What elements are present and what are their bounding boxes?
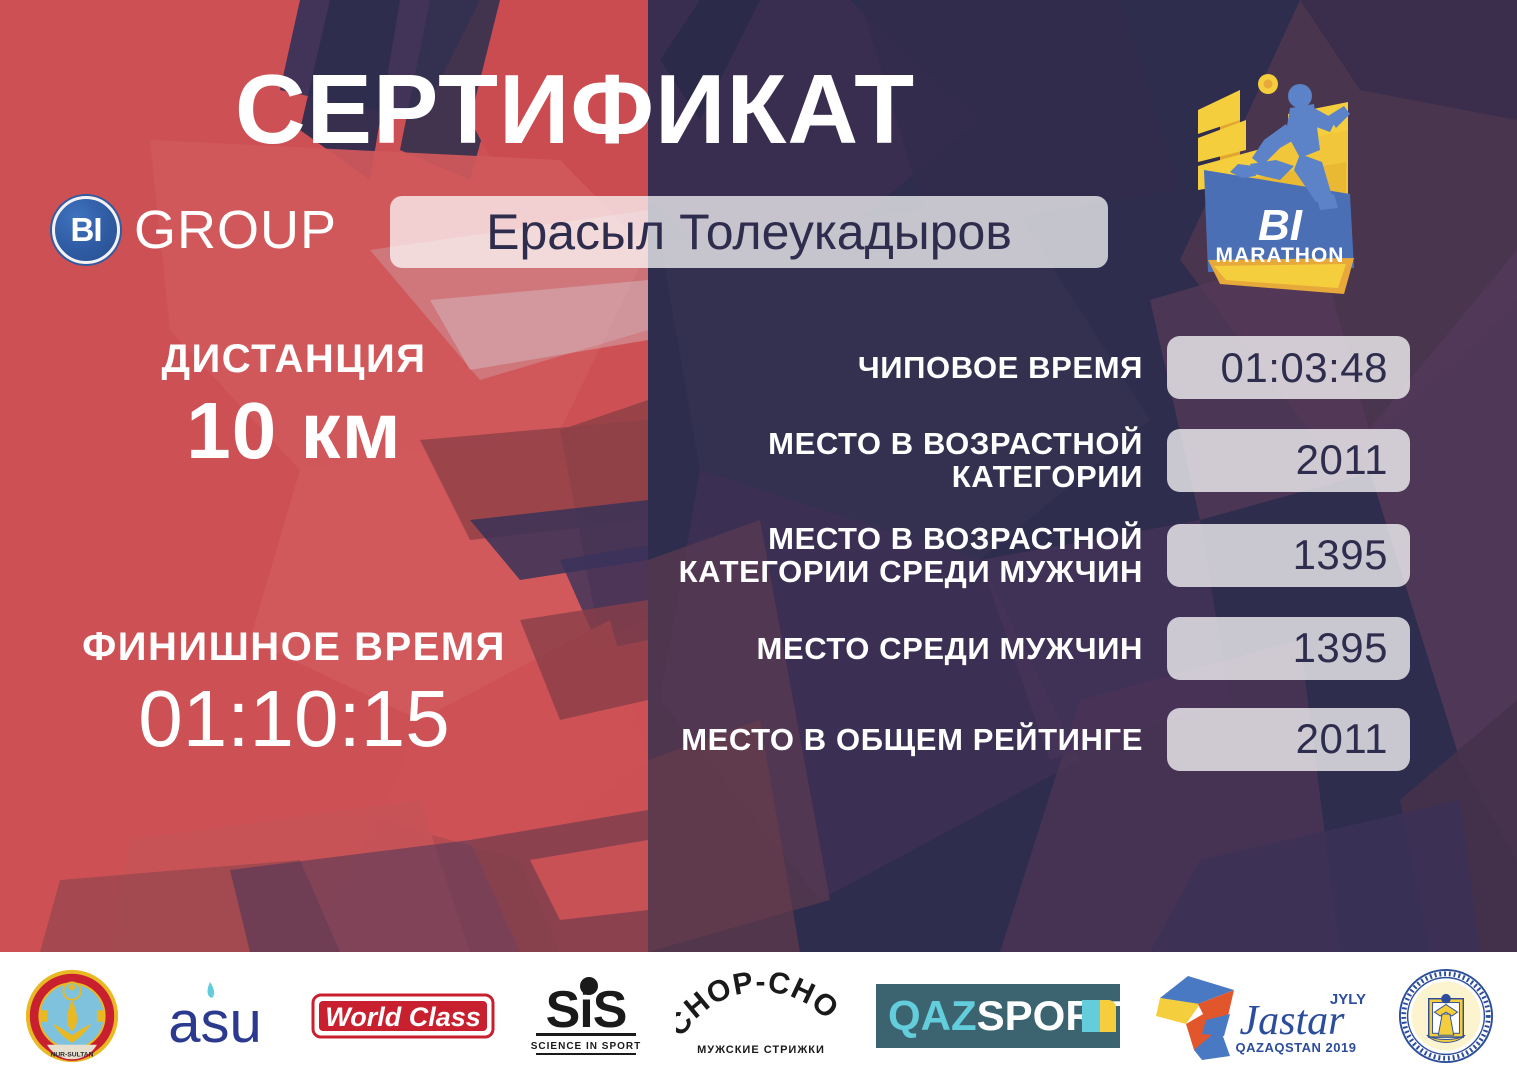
marathon-logo-line2: MARATHON [1216,244,1345,267]
sis-logo-icon: SiS SCIENCE IN SPORT [526,971,646,1061]
jastar-qazaqstan-text: QAZAQSTAN 2019 [1235,1040,1356,1055]
stat-age-category-men-place-label: МЕСТО В ВОЗРАСТНОЙ КАТЕГОРИИ СРЕДИ МУЖЧИ… [600,522,1143,589]
sponsor-sis: SiS SCIENCE IN SPORT [526,968,646,1064]
certificate-background: СЕРТИФИКАТ BI GROUP Ерасыл Толеукадыров [0,0,1517,952]
world-class-wordmark: World Class [325,1002,481,1032]
nur-sultan-emblem-text: NUR-SULTAN [50,1051,93,1058]
stat-row-overall-place: МЕСТО В ОБЩЕМ РЕЙТИНГЕ 2011 [600,708,1410,771]
left-stats-group: ДИСТАНЦИЯ 10 км ФИНИШНОЕ ВРЕМЯ 01:10:15 [44,336,544,763]
sponsor-jastar-jyly: Jastar JYLY QAZAQSTAN 2019 [1150,968,1368,1064]
asu-wordmark: asu [168,990,262,1055]
stat-distance-label: ДИСТАНЦИЯ [44,336,544,382]
sponsor-world-class: World Class [310,968,496,1064]
nur-sultan-emblem-icon: NUR-SULTAN [24,968,120,1064]
stat-men-place-label: МЕСТО СРЕДИ МУЖЧИН [600,632,1143,665]
stat-age-category-place-label: МЕСТО В ВОЗРАСТНОЙ КАТЕГОРИИ [600,427,1143,494]
stat-distance: ДИСТАНЦИЯ 10 км [44,336,544,476]
ministry-emblem-icon [1398,968,1494,1064]
chop-chop-logo-icon: CHOP-CHOP МУЖСКИЕ СТРИЖКИ [676,971,846,1061]
sponsor-chop-chop: CHOP-CHOP МУЖСКИЕ СТРИЖКИ [676,968,846,1064]
stat-finish-time-label: ФИНИШНОЕ ВРЕМЯ [44,624,544,670]
stat-age-category-men-place-value: 1395 [1167,524,1410,587]
athlete-name: Ерасыл Толеукадыров [486,203,1012,261]
marathon-logo-line1: BI [1258,201,1303,250]
sponsor-qazsport: QAZSPORT [876,968,1120,1064]
jastar-jyly-text: JYLY [1329,991,1365,1008]
athlete-name-badge: Ерасыл Толеукадыров [390,196,1108,268]
stat-row-age-category-place: МЕСТО В ВОЗРАСТНОЙ КАТЕГОРИИ 2011 [600,427,1410,494]
page-title: СЕРТИФИКАТ [0,58,1150,161]
qazsport-logo-icon: QAZSPORT [876,978,1120,1054]
stat-finish-time: ФИНИШНОЕ ВРЕМЯ 01:10:15 [44,624,544,764]
bi-group-wordmark: GROUP [134,199,337,261]
right-stats-group: ЧИПОВОЕ ВРЕМЯ 01:03:48 МЕСТО В ВОЗРАСТНО… [600,336,1410,771]
stat-chip-time-value: 01:03:48 [1167,336,1410,399]
sis-tagline: SCIENCE IN SPORT [530,1041,640,1052]
stat-row-chip-time: ЧИПОВОЕ ВРЕМЯ 01:03:48 [600,336,1410,399]
stat-row-age-category-men-place: МЕСТО В ВОЗРАСТНОЙ КАТЕГОРИИ СРЕДИ МУЖЧИ… [600,522,1410,589]
sponsor-ministry-of-culture-and-sport [1398,968,1494,1064]
certificate-canvas: СЕРТИФИКАТ BI GROUP Ерасыл Толеукадыров [0,0,1517,1080]
stat-row-men-place: МЕСТО СРЕДИ МУЖЧИН 1395 [600,617,1410,680]
stat-chip-time-label: ЧИПОВОЕ ВРЕМЯ [600,351,1143,384]
chop-chop-tagline: МУЖСКИЕ СТРИЖКИ [697,1044,825,1056]
bi-marathon-logo-icon: BI MARATHON [1168,62,1378,302]
world-class-logo-icon: World Class [310,981,496,1051]
chop-chop-wordmark: CHOP-CHOP [676,971,845,1042]
sponsor-asu: asu [150,968,280,1064]
stat-finish-time-value: 01:10:15 [44,674,544,764]
sponsors-footer: NUR-SULTAN asu World Class SiS SC [0,952,1517,1080]
stat-overall-place-label: МЕСТО В ОБЩЕМ РЕЙТИНГЕ [600,723,1143,756]
stat-men-place-value: 1395 [1167,617,1410,680]
bi-logo-icon: BI [52,196,120,264]
sponsor-nur-sultan-emblem: NUR-SULTAN [24,968,120,1064]
stat-age-category-place-value: 2011 [1167,429,1410,492]
stat-distance-value: 10 км [44,386,544,476]
bi-group-logo: BI GROUP [52,196,337,264]
asu-logo-icon: asu [150,976,280,1056]
stat-overall-place-value: 2011 [1167,708,1410,771]
jastar-jyly-logo-icon: Jastar JYLY QAZAQSTAN 2019 [1150,970,1368,1062]
